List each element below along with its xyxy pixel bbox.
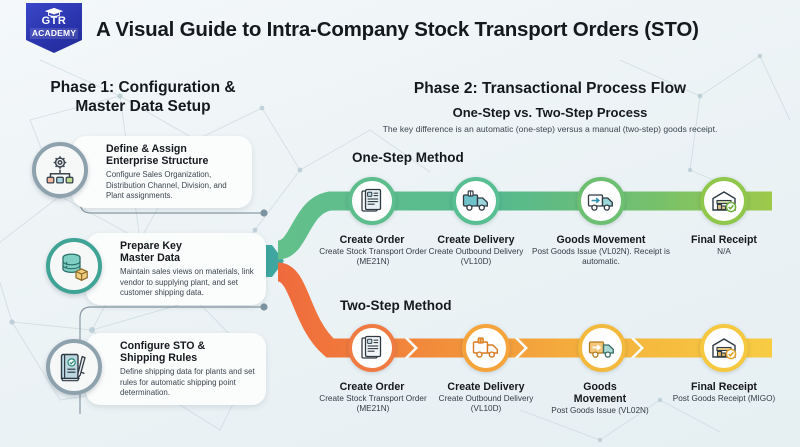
card-title: Define & Assign Enterprise Structure bbox=[106, 143, 242, 168]
truck-arrow-icon bbox=[587, 188, 615, 214]
phase1-heading: Phase 1: Configuration & Master Data Set… bbox=[18, 78, 268, 116]
delivery-truck-icon bbox=[472, 335, 500, 361]
two-step-sub-create-delivery: Create Outbound Delivery (VL10D) bbox=[432, 394, 540, 414]
card-description: Define shipping data for plants and set … bbox=[120, 367, 256, 398]
card-title-line1: Define & Assign bbox=[106, 143, 242, 155]
one-step-method-label: One-Step Method bbox=[352, 150, 464, 165]
page-header: GTR ACADEMY A Visual Guide to Intra-Comp… bbox=[0, 0, 800, 60]
card-title-line2: Shipping Rules bbox=[120, 352, 256, 364]
card-description: Configure Sales Organization, Distributi… bbox=[106, 170, 242, 201]
one-step-sub-final-receipt: N/A bbox=[672, 247, 776, 257]
logo-text-gtr: GTR bbox=[42, 16, 67, 27]
one-step-sub-goods-movement: Post Goods Issue (VL02N). Receipt is aut… bbox=[530, 247, 672, 267]
one-step-node-goods-movement[interactable] bbox=[577, 177, 625, 225]
one-step-node-final-receipt[interactable] bbox=[700, 177, 748, 225]
two-step-title-goods-movement: Goods Movement bbox=[556, 381, 644, 405]
one-step-sub-create-delivery: Create Outbound Delivery (VL10D) bbox=[414, 247, 538, 267]
card-title: Configure STO & Shipping Rules bbox=[120, 340, 256, 365]
graduation-cap-icon bbox=[43, 7, 65, 17]
delivery-truck-icon bbox=[462, 188, 490, 214]
card-description: Maintain sales views on materials, link … bbox=[120, 267, 256, 298]
logo-text-academy: ACADEMY bbox=[30, 28, 78, 39]
document-order-icon bbox=[359, 335, 385, 361]
two-step-title-final-receipt: Final Receipt bbox=[672, 381, 776, 393]
card-sto-shipping-rules[interactable]: Configure STO & Shipping Rules Define sh… bbox=[86, 333, 266, 405]
phase2-heading: Phase 2: Transactional Process Flow bbox=[300, 80, 800, 98]
warehouse-check-icon bbox=[711, 188, 738, 214]
two-step-sub-create-order: Create Stock Transport Order (ME21N) bbox=[310, 394, 436, 414]
phase1-heading-line1: Phase 1: Configuration & bbox=[18, 78, 268, 97]
phase1-heading-line2: Master Data Setup bbox=[18, 97, 268, 116]
one-step-title-final-receipt: Final Receipt bbox=[672, 234, 776, 246]
two-step-sub-final-receipt: Post Goods Receipt (MIGO) bbox=[668, 394, 780, 404]
gear-org-chart-icon bbox=[32, 142, 88, 198]
two-step-title-goods-movement-line2: Movement bbox=[556, 393, 644, 405]
two-step-node-final-receipt[interactable] bbox=[700, 324, 748, 372]
one-step-title-goods-movement: Goods Movement bbox=[542, 234, 660, 246]
two-step-node-goods-movement[interactable] bbox=[578, 324, 626, 372]
two-step-method-label: Two-Step Method bbox=[340, 298, 451, 313]
card-title: Prepare Key Master Data bbox=[120, 240, 256, 265]
card-master-data[interactable]: Prepare Key Master Data Maintain sales v… bbox=[86, 233, 266, 305]
two-step-node-create-delivery[interactable] bbox=[462, 324, 510, 372]
page-title: A Visual Guide to Intra-Company Stock Tr… bbox=[96, 18, 699, 42]
phase2-note: The key difference is an automatic (one-… bbox=[290, 124, 800, 134]
rulebook-pen-icon bbox=[46, 339, 102, 395]
two-step-title-create-delivery: Create Delivery bbox=[434, 381, 538, 393]
card-title-line2: Enterprise Structure bbox=[106, 155, 242, 167]
one-step-title-create-delivery: Create Delivery bbox=[424, 234, 528, 246]
phase2-subtitle: One-Step vs. Two-Step Process bbox=[300, 105, 800, 120]
card-title-line2: Master Data bbox=[120, 252, 256, 264]
one-step-node-create-order[interactable] bbox=[348, 177, 396, 225]
one-step-title-create-order: Create Order bbox=[320, 234, 424, 246]
card-enterprise-structure[interactable]: Define & Assign Enterprise Structure Con… bbox=[72, 136, 252, 208]
warehouse-check-icon bbox=[711, 335, 738, 361]
two-step-node-create-order[interactable] bbox=[348, 324, 396, 372]
card-title-line1: Prepare Key bbox=[120, 240, 256, 252]
brand-logo: GTR ACADEMY bbox=[26, 3, 82, 53]
two-step-title-create-order: Create Order bbox=[320, 381, 424, 393]
two-step-sub-goods-movement: Post Goods Issue (VL02N) bbox=[548, 406, 652, 416]
document-order-icon bbox=[359, 188, 385, 214]
one-step-node-create-delivery[interactable] bbox=[452, 177, 500, 225]
database-box-icon bbox=[46, 238, 102, 294]
truck-arrow-icon bbox=[588, 335, 616, 361]
two-step-title-goods-movement-line1: Goods bbox=[556, 381, 644, 393]
card-title-line1: Configure STO & bbox=[120, 340, 256, 352]
